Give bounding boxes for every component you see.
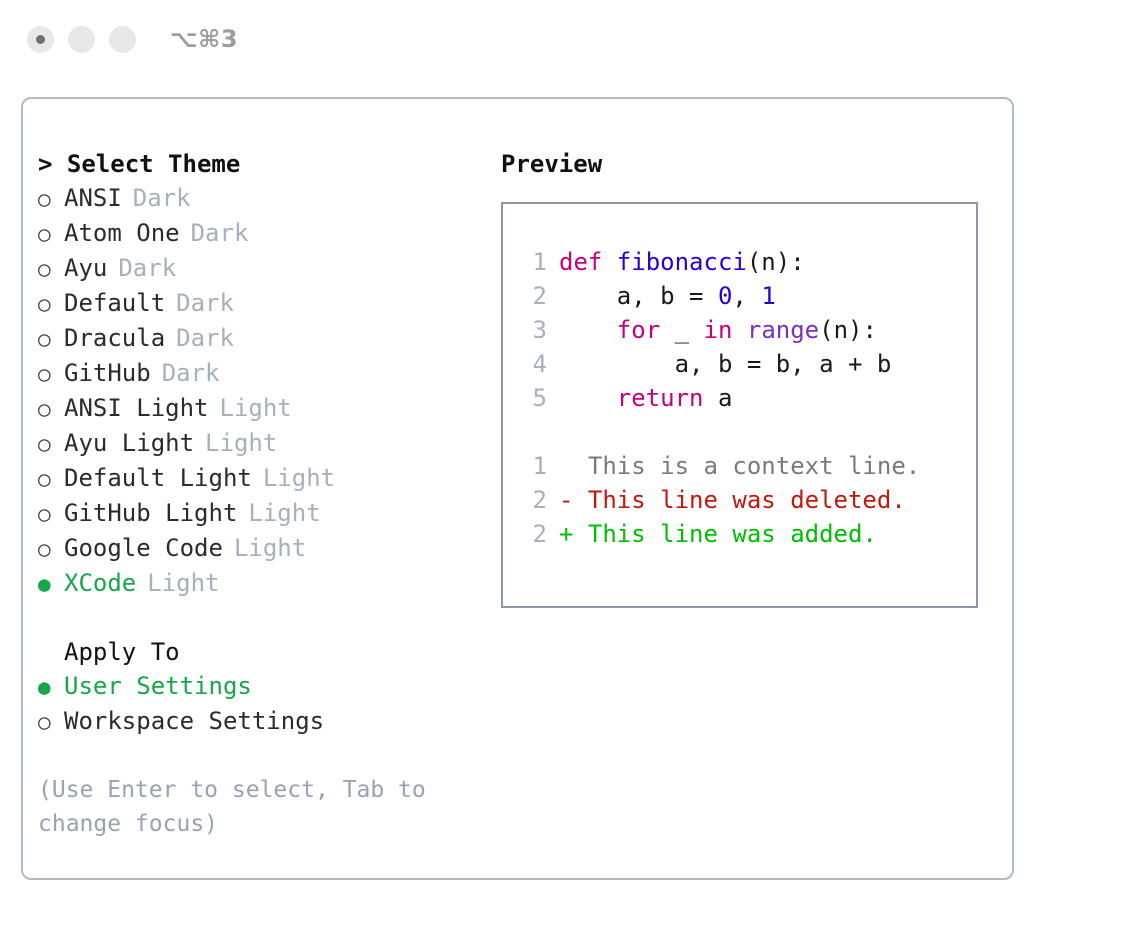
theme-option-ayu-light[interactable]: ○Ayu LightLight <box>38 426 468 461</box>
apply-to-option-label: User Settings <box>64 669 252 703</box>
code-token-pl: a, b = <box>559 282 718 310</box>
line-number: 2 <box>517 279 547 313</box>
code-token-num: 1 <box>761 282 775 310</box>
code-token-pl: (n): <box>747 248 805 276</box>
code-line-text: a, b = 0, 1 <box>559 279 776 313</box>
radio-unselected-icon: ○ <box>38 497 64 531</box>
radio-unselected-icon: ○ <box>38 322 64 356</box>
diff-sample: 1 This is a context line.2- This line wa… <box>517 449 970 551</box>
window-dot-active[interactable] <box>27 26 54 53</box>
theme-option-label: Ayu Light <box>64 426 194 460</box>
code-line-text: return a <box>559 381 732 415</box>
code-token-pl <box>732 316 746 344</box>
theme-option-kind: Dark <box>118 251 176 285</box>
preview-box: 1def fibonacci(n):2 a, b = 0, 13 for _ i… <box>501 202 978 608</box>
theme-option-github-light[interactable]: ○GitHub LightLight <box>38 496 468 531</box>
radio-unselected-icon: ○ <box>38 392 64 426</box>
line-number: 1 <box>517 245 547 279</box>
theme-option-kind: Light <box>234 531 306 565</box>
radio-unselected-icon: ○ <box>38 532 64 566</box>
theme-option-label: ANSI Light <box>64 391 209 425</box>
theme-option-github[interactable]: ○GitHubDark <box>38 356 468 391</box>
keyboard-shortcut-label: ⌥⌘3 <box>170 25 238 53</box>
preview-column: Preview 1def fibonacci(n):2 a, b = 0, 13… <box>501 147 1001 608</box>
code-token-pl: (n): <box>819 316 877 344</box>
theme-option-label: Atom One <box>64 216 180 250</box>
radio-unselected-icon: ○ <box>38 462 64 496</box>
theme-option-label: Dracula <box>64 321 165 355</box>
theme-option-kind: Dark <box>162 356 220 390</box>
window-dot-2[interactable] <box>68 26 95 53</box>
code-line-text: for _ in range(n): <box>559 313 877 347</box>
theme-option-label: Google Code <box>64 531 223 565</box>
code-preview: 1def fibonacci(n):2 a, b = 0, 13 for _ i… <box>517 245 970 551</box>
code-line-text: a, b = b, a + b <box>559 347 891 381</box>
apply-to-option-workspace-settings[interactable]: ○Workspace Settings <box>38 704 468 739</box>
title-bar: ⌥⌘3 <box>0 0 1140 78</box>
theme-option-kind: Light <box>220 391 292 425</box>
theme-option-ansi[interactable]: ○ANSIDark <box>38 181 468 216</box>
window-dot-active-inner <box>36 35 45 44</box>
theme-option-kind: Dark <box>133 181 191 215</box>
line-number: 1 <box>517 449 547 483</box>
diff-line-ctx: 1 This is a context line. <box>517 449 970 483</box>
theme-option-kind: Light <box>205 426 277 460</box>
theme-option-ayu[interactable]: ○AyuDark <box>38 251 468 286</box>
radio-unselected-icon: ○ <box>38 287 64 321</box>
theme-option-kind: Dark <box>176 286 234 320</box>
code-line: 3 for _ in range(n): <box>517 313 970 347</box>
code-token-kw: def <box>559 248 617 276</box>
theme-list: ○ANSIDark○Atom OneDark○AyuDark○DefaultDa… <box>38 181 468 601</box>
code-token-pl: a, b = b, a + b <box>559 350 891 378</box>
preview-header: Preview <box>501 147 1001 181</box>
radio-unselected-icon: ○ <box>38 252 64 286</box>
code-token-pl <box>559 384 617 412</box>
code-spacer <box>517 415 970 449</box>
theme-option-label: GitHub <box>64 356 151 390</box>
radio-unselected-icon: ○ <box>38 217 64 251</box>
main-panel: > Select Theme ○ANSIDark○Atom OneDark○Ay… <box>21 97 1014 880</box>
theme-option-label: Ayu <box>64 251 107 285</box>
radio-unselected-icon: ○ <box>38 705 64 739</box>
diff-line-del: 2- This line was deleted. <box>517 483 970 517</box>
line-number: 2 <box>517 483 547 517</box>
apply-to-list: ●User Settings○Workspace Settings <box>38 669 468 739</box>
code-token-pl <box>559 316 617 344</box>
radio-unselected-icon: ○ <box>38 182 64 216</box>
line-number: 3 <box>517 313 547 347</box>
radio-selected-icon: ● <box>38 670 64 704</box>
code-token-bi: range <box>747 316 819 344</box>
theme-option-kind: Light <box>248 496 320 530</box>
theme-option-dracula[interactable]: ○DraculaDark <box>38 321 468 356</box>
diff-line-text: This is a context line. <box>559 449 920 483</box>
diff-line-text: + This line was added. <box>559 517 877 551</box>
theme-option-label: Default <box>64 286 165 320</box>
theme-option-kind: Light <box>147 566 219 600</box>
line-number: 5 <box>517 381 547 415</box>
code-token-pl: _ <box>660 316 703 344</box>
select-theme-header: > Select Theme <box>38 147 468 181</box>
code-token-pl: , <box>732 282 761 310</box>
code-sample: 1def fibonacci(n):2 a, b = 0, 13 for _ i… <box>517 245 970 415</box>
code-token-kw: return <box>617 384 704 412</box>
theme-option-ansi-light[interactable]: ○ANSI LightLight <box>38 391 468 426</box>
code-line: 1def fibonacci(n): <box>517 245 970 279</box>
code-token-kw: for <box>617 316 660 344</box>
code-token-pl: a <box>704 384 733 412</box>
code-line-text: def fibonacci(n): <box>559 245 805 279</box>
code-line: 2 a, b = 0, 1 <box>517 279 970 313</box>
theme-selector-column: > Select Theme ○ANSIDark○Atom OneDark○Ay… <box>38 147 468 841</box>
code-line: 4 a, b = b, a + b <box>517 347 970 381</box>
radio-unselected-icon: ○ <box>38 427 64 461</box>
theme-option-label: Default Light <box>64 461 252 495</box>
theme-option-default[interactable]: ○DefaultDark <box>38 286 468 321</box>
line-number: 2 <box>517 517 547 551</box>
theme-option-default-light[interactable]: ○Default LightLight <box>38 461 468 496</box>
theme-option-google-code[interactable]: ○Google CodeLight <box>38 531 468 566</box>
theme-option-label: ANSI <box>64 181 122 215</box>
theme-option-label: GitHub Light <box>64 496 237 530</box>
diff-line-text: - This line was deleted. <box>559 483 906 517</box>
window-dot-3[interactable] <box>109 26 136 53</box>
theme-option-kind: Light <box>263 461 335 495</box>
apply-to-option-user-settings[interactable]: ●User Settings <box>38 669 468 704</box>
window-controls <box>27 26 136 53</box>
code-token-num: 0 <box>718 282 732 310</box>
apply-to-header: Apply To <box>38 635 468 669</box>
code-line: 5 return a <box>517 381 970 415</box>
radio-unselected-icon: ○ <box>38 357 64 391</box>
keyboard-hint: (Use Enter to select, Tab to change focu… <box>38 773 438 841</box>
theme-option-kind: Dark <box>191 216 249 250</box>
app-window: ⌥⌘3 > Select Theme ○ANSIDark○Atom OneDar… <box>0 0 1140 934</box>
code-token-fn: fibonacci <box>617 248 747 276</box>
apply-to-option-label: Workspace Settings <box>64 704 324 738</box>
diff-line-add: 2+ This line was added. <box>517 517 970 551</box>
radio-selected-icon: ● <box>38 567 64 601</box>
code-token-kw: in <box>704 316 733 344</box>
line-number: 4 <box>517 347 547 381</box>
theme-option-atom-one[interactable]: ○Atom OneDark <box>38 216 468 251</box>
theme-option-label: XCode <box>64 566 136 600</box>
theme-option-kind: Dark <box>176 321 234 355</box>
theme-option-xcode[interactable]: ●XCodeLight <box>38 566 468 601</box>
